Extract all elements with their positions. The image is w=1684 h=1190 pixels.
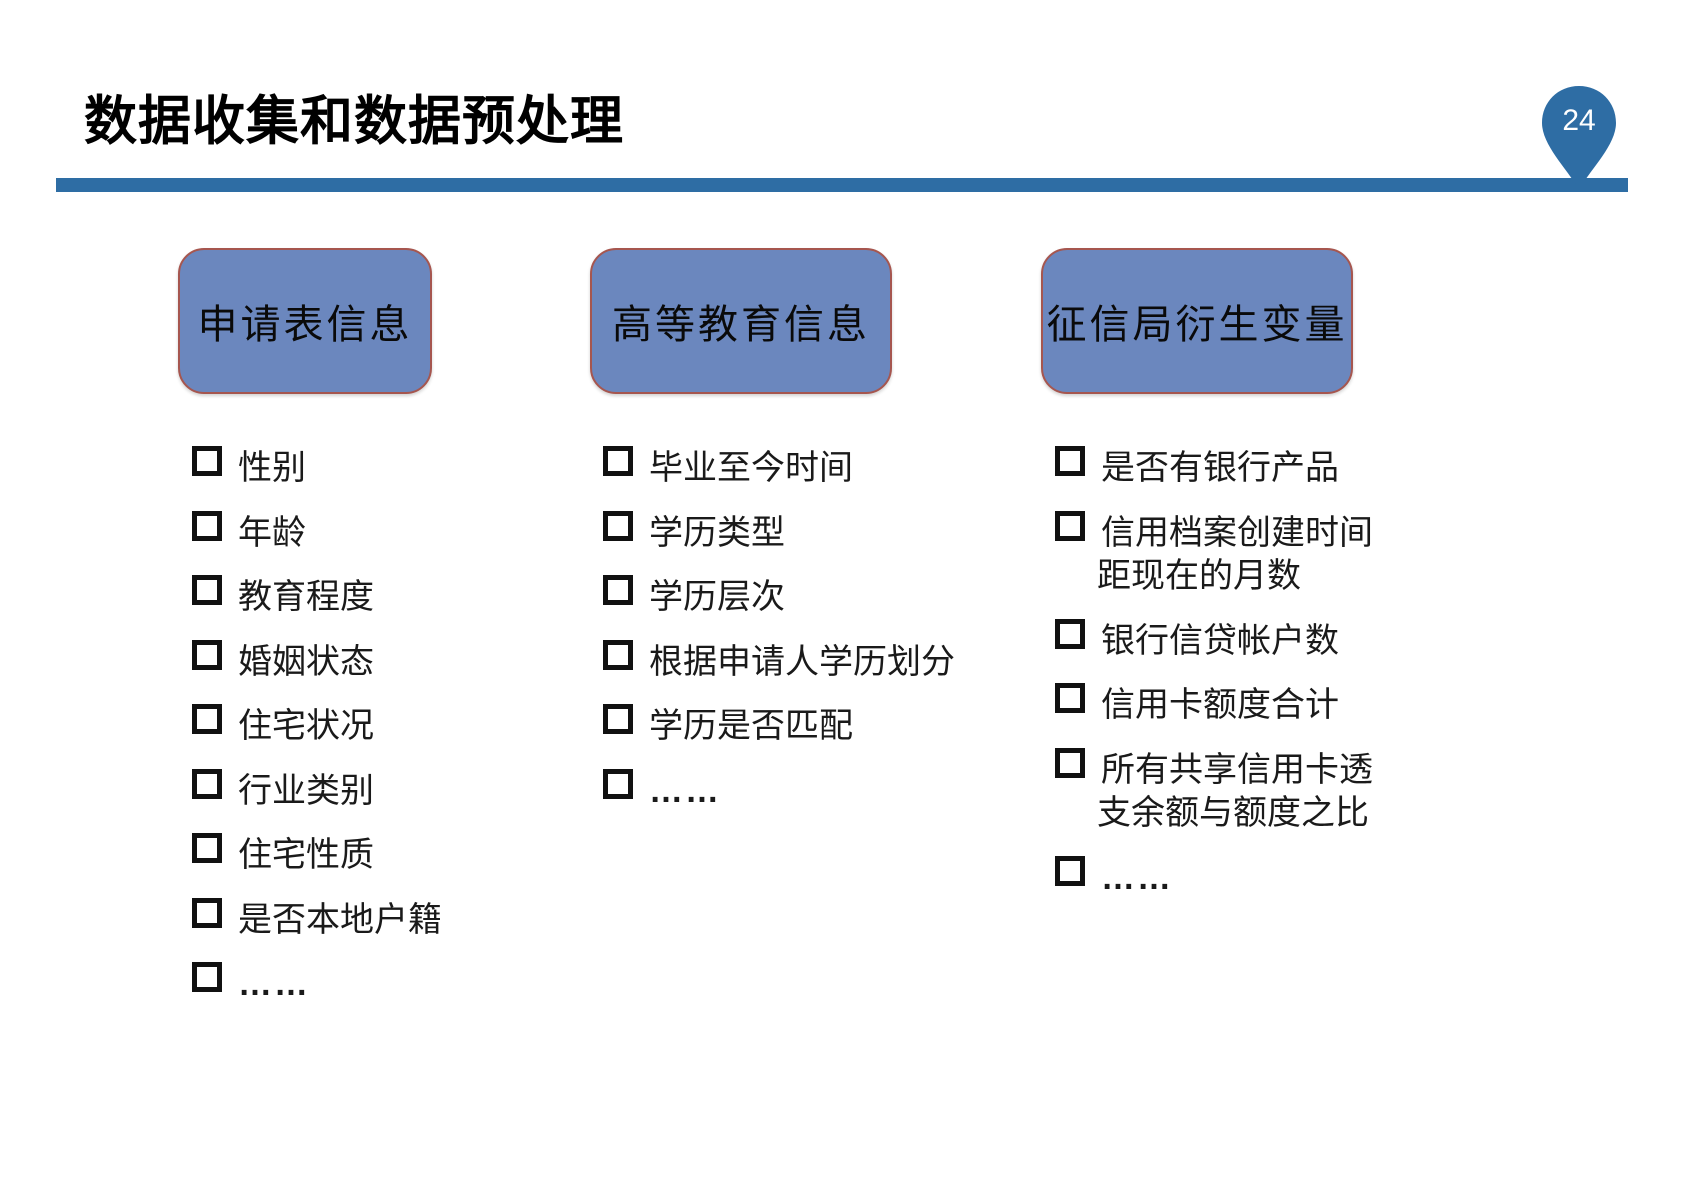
list-item-label: 是否有银行产品	[1101, 450, 1339, 487]
list-item: 是否有银行产品	[1055, 446, 1397, 491]
list-item-label: 银行信贷帐户数	[1101, 623, 1339, 660]
hollow-square-bullet-icon	[603, 769, 633, 799]
list-item-label: 性别	[238, 450, 306, 487]
list-item-label: 住宅性质	[238, 837, 374, 874]
hollow-square-bullet-icon	[603, 640, 633, 670]
list-item-label: 学历层次	[649, 579, 785, 616]
list-item: 根据申请人学历划分	[603, 640, 975, 685]
hollow-square-bullet-icon	[192, 962, 222, 992]
hollow-square-bullet-icon	[192, 898, 222, 928]
hollow-square-bullet-icon	[192, 511, 222, 541]
list-item-label: ……	[649, 772, 721, 810]
category-heading: 申请表信息	[198, 292, 413, 350]
list-item-label: 信用卡额度合计	[1101, 687, 1339, 724]
list-item-label: 住宅状况	[238, 708, 374, 745]
category-box-credit-bureau-variables[interactable]: 征信局衍生变量	[1041, 248, 1353, 394]
list-item-label: 信用档案创建时间距现在的月数	[1097, 515, 1373, 596]
list-item-label: 是否本地户籍	[238, 902, 442, 939]
page-number-label: 24	[1540, 106, 1618, 136]
list-item: 学历类型	[603, 511, 975, 556]
list-item-label: 根据申请人学历划分	[649, 644, 955, 681]
list-item: ……	[603, 769, 975, 814]
hollow-square-bullet-icon	[192, 833, 222, 863]
map-pin-icon	[1540, 84, 1618, 192]
list-item: 婚姻状态	[192, 640, 564, 685]
list-item: 是否本地户籍	[192, 898, 564, 943]
category-box-application-info[interactable]: 申请表信息	[178, 248, 432, 394]
list-item-label: 行业类别	[238, 773, 374, 810]
hollow-square-bullet-icon	[1055, 748, 1085, 778]
hollow-square-bullet-icon	[1055, 619, 1085, 649]
list-item: 所有共享信用卡透支余额与额度之比	[1055, 748, 1397, 836]
hollow-square-bullet-icon	[192, 446, 222, 476]
list-item-label: 学历类型	[649, 515, 785, 552]
list-item: ……	[1055, 856, 1397, 901]
hollow-square-bullet-icon	[1055, 856, 1085, 886]
hollow-square-bullet-icon	[603, 575, 633, 605]
list-item: 学历层次	[603, 575, 975, 620]
feature-list-higher-education-info: 毕业至今时间 学历类型 学历层次 根据申请人学历划分 学历是否匹配 ……	[603, 446, 1015, 813]
list-item: ……	[192, 962, 564, 1007]
hollow-square-bullet-icon	[192, 575, 222, 605]
list-item: 教育程度	[192, 575, 564, 620]
hollow-square-bullet-icon	[1055, 511, 1085, 541]
page-number-pin: 24	[1540, 84, 1618, 192]
list-item-label: 年龄	[238, 515, 306, 552]
list-item-label: 所有共享信用卡透支余额与额度之比	[1097, 752, 1373, 833]
list-item-label: ……	[238, 965, 310, 1003]
page-title: 数据收集和数据预处理	[84, 92, 624, 153]
hollow-square-bullet-icon	[192, 769, 222, 799]
feature-list-credit-bureau-variables: 是否有银行产品 信用档案创建时间距现在的月数 银行信贷帐户数 信用卡额度合计 所…	[1055, 446, 1465, 900]
list-item: 学历是否匹配	[603, 704, 975, 749]
category-columns: 申请表信息 性别 年龄 教育程度 婚姻状态 住宅状况	[0, 248, 1684, 988]
hollow-square-bullet-icon	[603, 446, 633, 476]
list-item: 行业类别	[192, 769, 564, 814]
list-item: 信用卡额度合计	[1055, 683, 1397, 728]
hollow-square-bullet-icon	[603, 704, 633, 734]
list-item: 毕业至今时间	[603, 446, 975, 491]
category-heading: 征信局衍生变量	[1047, 292, 1348, 350]
hollow-square-bullet-icon	[192, 704, 222, 734]
list-item-label: 学历是否匹配	[649, 708, 853, 745]
list-item: 信用档案创建时间距现在的月数	[1055, 511, 1397, 599]
category-box-higher-education-info[interactable]: 高等教育信息	[590, 248, 892, 394]
category-heading: 高等教育信息	[612, 292, 870, 350]
hollow-square-bullet-icon	[1055, 446, 1085, 476]
list-item: 银行信贷帐户数	[1055, 619, 1397, 664]
list-item-label: 教育程度	[238, 579, 374, 616]
hollow-square-bullet-icon	[1055, 683, 1085, 713]
list-item-label: ……	[1101, 859, 1173, 897]
list-item: 住宅状况	[192, 704, 564, 749]
column-application-info: 申请表信息 性别 年龄 教育程度 婚姻状态 住宅状况	[150, 248, 580, 1027]
slide-canvas: 数据收集和数据预处理 24 申请表信息 性别 年龄 教育程度	[0, 0, 1684, 1190]
column-credit-bureau-variables: 征信局衍生变量 是否有银行产品 信用档案创建时间距现在的月数 银行信贷帐户数 信…	[1035, 248, 1465, 920]
list-item-label: 毕业至今时间	[649, 450, 853, 487]
feature-list-application-info: 性别 年龄 教育程度 婚姻状态 住宅状况 行业类别 住宅性质	[192, 446, 580, 1007]
list-item: 性别	[192, 446, 564, 491]
list-item-label: 婚姻状态	[238, 644, 374, 681]
list-item: 住宅性质	[192, 833, 564, 878]
hollow-square-bullet-icon	[192, 640, 222, 670]
title-divider	[56, 178, 1628, 192]
list-item: 年龄	[192, 511, 564, 556]
column-higher-education-info: 高等教育信息 毕业至今时间 学历类型 学历层次 根据申请人学历划分 学历是否匹配	[585, 248, 1015, 833]
hollow-square-bullet-icon	[603, 511, 633, 541]
